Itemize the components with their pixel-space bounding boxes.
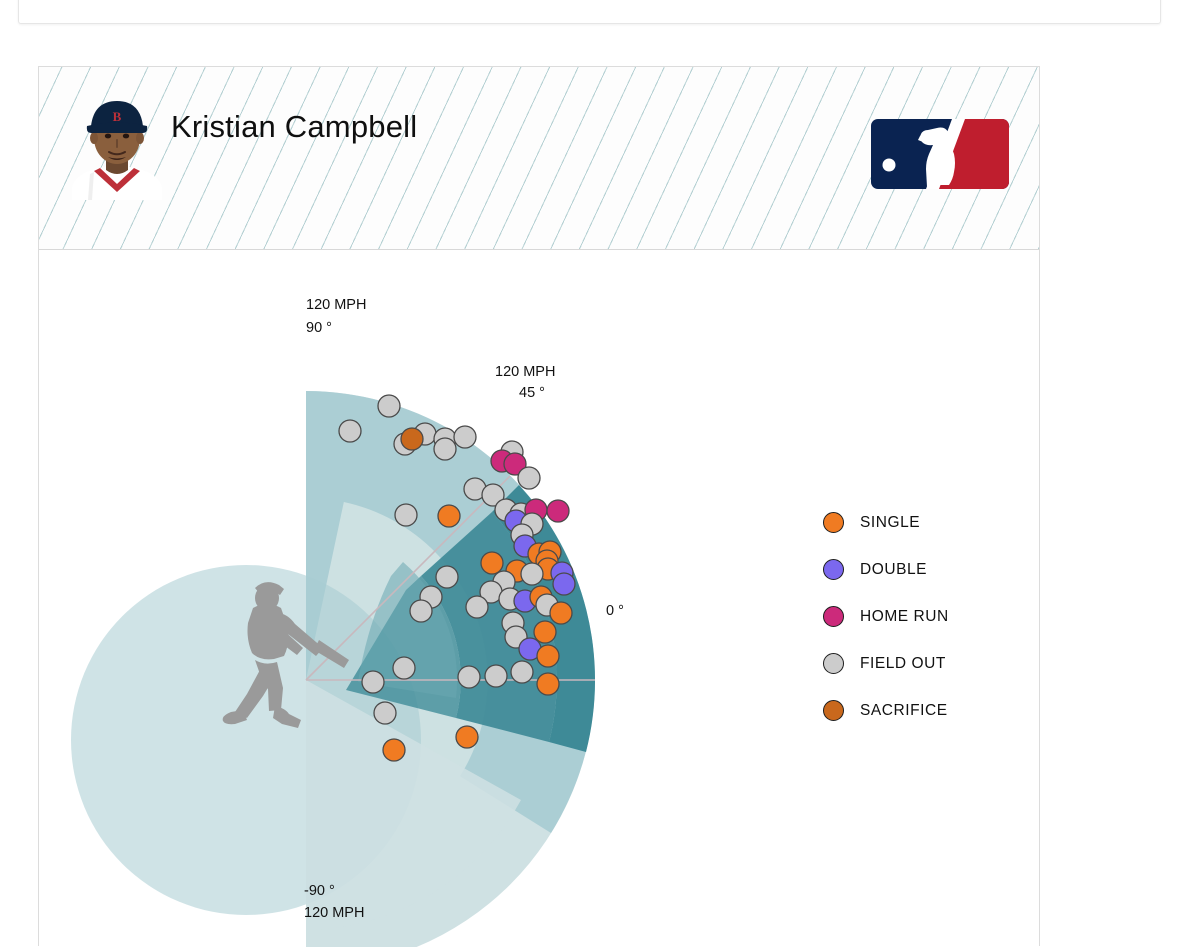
data-point-field-out[interactable] (518, 467, 540, 489)
data-point-home-run[interactable] (547, 500, 569, 522)
data-point-single[interactable] (481, 552, 503, 574)
data-point-field-out[interactable] (458, 666, 480, 688)
legend-item-double[interactable]: DOUBLE (823, 546, 949, 593)
legend-item-home-run[interactable]: HOME RUN (823, 593, 949, 640)
data-point-single[interactable] (550, 602, 572, 624)
axis-label: -90 ° (304, 883, 335, 899)
axis-label: 90 ° (306, 320, 332, 336)
data-point-field-out[interactable] (395, 504, 417, 526)
previous-card-stub (18, 0, 1161, 24)
legend: SINGLEDOUBLEHOME RUNFIELD OUTSACRIFICE (823, 499, 949, 734)
legend-item-label: HOME RUN (860, 608, 949, 626)
axis-label: 120 MPH (306, 297, 366, 313)
legend-item-label: SACRIFICE (860, 702, 948, 720)
legend-swatch-icon (823, 606, 844, 627)
legend-item-label: SINGLE (860, 514, 920, 532)
data-point-field-out[interactable] (434, 438, 456, 460)
legend-item-label: DOUBLE (860, 561, 927, 579)
legend-item-single[interactable]: SINGLE (823, 499, 949, 546)
axis-label: 120 MPH (495, 364, 555, 380)
data-point-field-out[interactable] (466, 596, 488, 618)
data-point-field-out[interactable] (378, 395, 400, 417)
axis-label: 45 ° (519, 385, 545, 401)
legend-swatch-icon (823, 653, 844, 674)
axis-label: 0 ° (606, 603, 624, 619)
data-point-sacrifice[interactable] (401, 428, 423, 450)
mlb-logo (871, 119, 1009, 189)
card-header: B Kristian Campbell (39, 67, 1039, 250)
page-title: Kristian Campbell (171, 109, 417, 145)
data-point-field-out[interactable] (374, 702, 396, 724)
data-point-field-out[interactable] (393, 657, 415, 679)
data-point-field-out[interactable] (410, 600, 432, 622)
player-batted-ball-card: B Kristian Campbell (38, 66, 1040, 946)
legend-item-label: FIELD OUT (860, 655, 946, 673)
card-body: 120 MPH90 °120 MPH45 °0 °-90 °120 MPH SI… (39, 250, 1039, 947)
svg-text:B: B (113, 109, 122, 124)
axis-label: 120 MPH (304, 905, 364, 921)
legend-item-field-out[interactable]: FIELD OUT (823, 640, 949, 687)
data-point-single[interactable] (383, 739, 405, 761)
data-point-field-out[interactable] (521, 563, 543, 585)
legend-swatch-icon (823, 559, 844, 580)
data-point-single[interactable] (537, 673, 559, 695)
data-point-single[interactable] (534, 621, 556, 643)
data-point-single[interactable] (438, 505, 460, 527)
data-point-field-out[interactable] (454, 426, 476, 448)
data-point-field-out[interactable] (436, 566, 458, 588)
data-point-field-out[interactable] (339, 420, 361, 442)
data-point-field-out[interactable] (485, 665, 507, 687)
data-point-single[interactable] (537, 645, 559, 667)
player-headshot: B (64, 92, 170, 200)
data-point-field-out[interactable] (362, 671, 384, 693)
legend-swatch-icon (823, 700, 844, 721)
legend-item-sacrifice[interactable]: SACRIFICE (823, 687, 949, 734)
data-point-field-out[interactable] (511, 661, 533, 683)
data-point-double[interactable] (553, 573, 575, 595)
legend-swatch-icon (823, 512, 844, 533)
data-point-single[interactable] (456, 726, 478, 748)
